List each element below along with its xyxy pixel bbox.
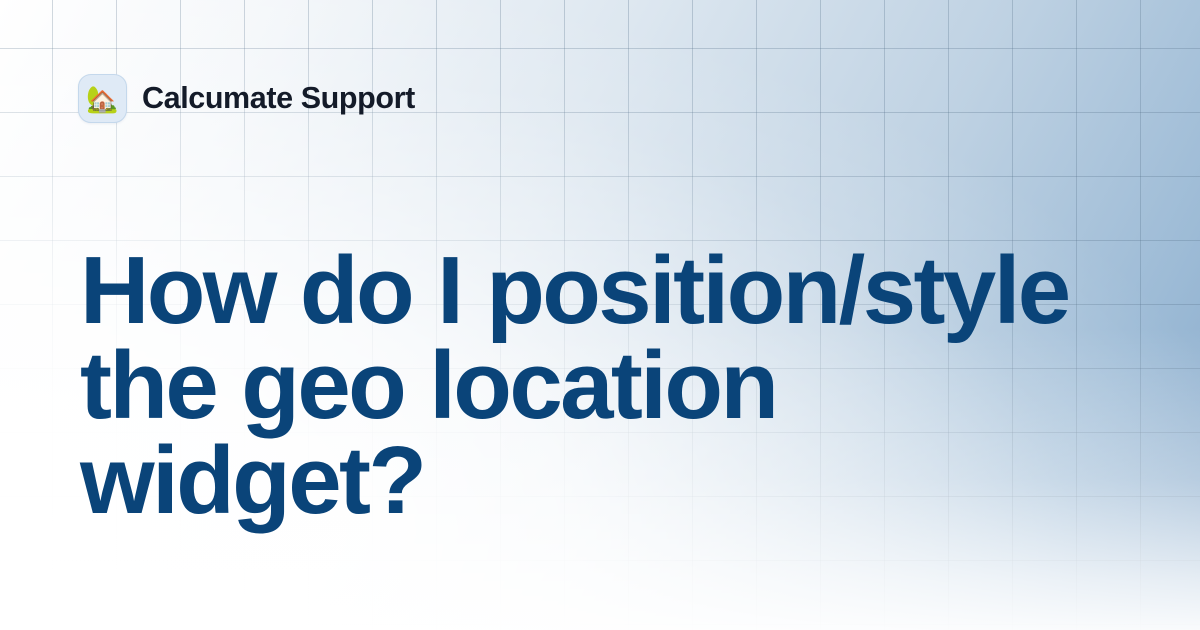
card-content: 🏡 Calcumate Support How do I position/st… <box>0 0 1200 630</box>
brand-name: Calcumate Support <box>142 81 415 116</box>
house-with-garden-icon: 🏡 <box>78 74 127 123</box>
social-share-card: 🏡 Calcumate Support How do I position/st… <box>0 0 1200 630</box>
brand-lockup: 🏡 Calcumate Support <box>78 74 415 123</box>
page-title: How do I position/style the geo location… <box>80 243 1140 528</box>
